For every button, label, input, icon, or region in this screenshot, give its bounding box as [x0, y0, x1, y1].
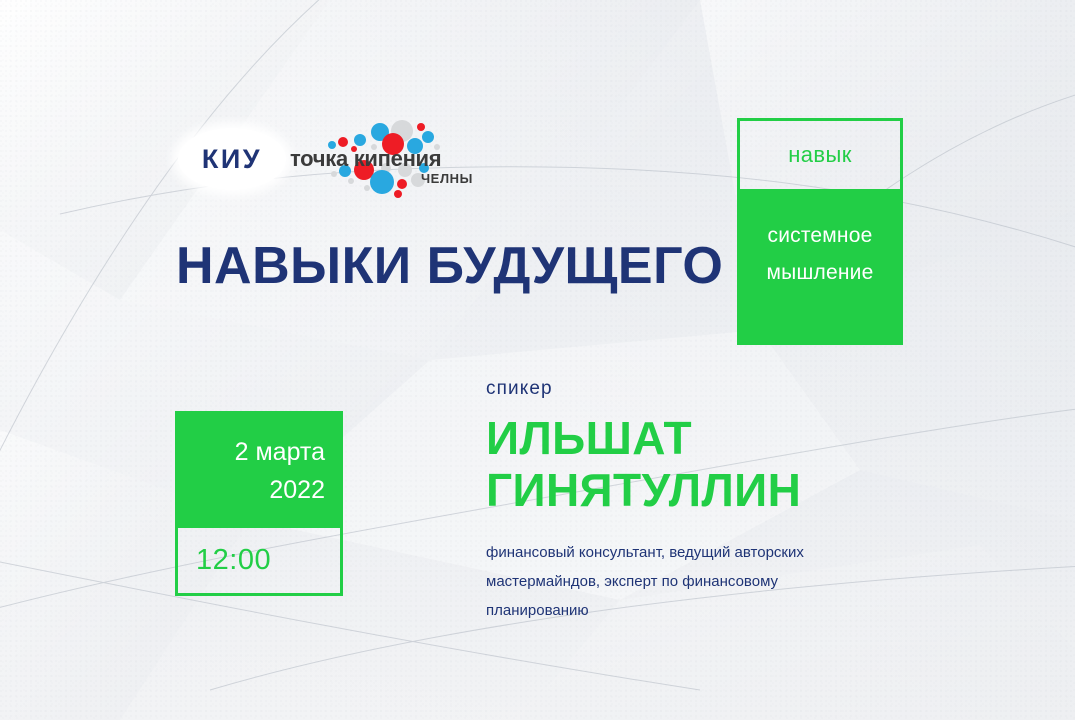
kiu-logo-text: КИУ: [202, 144, 262, 175]
skill-card-line-2: мышление: [767, 254, 874, 291]
event-date-year: 2022: [269, 471, 325, 509]
tochka-kipeniya-logo: точка кипения ЧЕЛНЫ: [290, 118, 475, 200]
poster-title: НАВЫКИ БУДУЩЕГО: [176, 236, 723, 296]
logo-row: КИУ: [178, 118, 478, 200]
speaker-section: спикер ИЛЬШАТ ГИНЯТУЛЛИН финансовый конс…: [486, 378, 906, 625]
skill-card-label: навык: [788, 142, 852, 168]
skill-card-body: системное мышление: [737, 192, 903, 345]
date-time-card: 2 марта 2022 12:00: [175, 411, 343, 596]
speaker-last-name: ГИНЯТУЛЛИН: [486, 464, 906, 516]
tochka-kipeniya-wordmark: точка кипения: [290, 146, 441, 172]
speaker-kicker-label: спикер: [486, 378, 906, 400]
event-time: 12:00: [196, 544, 271, 577]
kiu-logo: КИУ: [178, 128, 286, 190]
event-date-day: 2 марта: [235, 433, 325, 471]
skill-card: навык системное мышление: [737, 118, 903, 345]
speaker-first-name: ИЛЬШАТ: [486, 412, 906, 464]
date-card: 2 марта 2022: [175, 411, 343, 528]
event-poster: КИУ: [0, 0, 1075, 720]
time-card: 12:00: [175, 528, 343, 596]
tochka-kipeniya-city: ЧЕЛНЫ: [421, 171, 473, 186]
speaker-name: ИЛЬШАТ ГИНЯТУЛЛИН: [486, 412, 906, 516]
speaker-description: финансовый консультант, ведущий авторски…: [486, 538, 851, 625]
skill-card-line-1: системное: [768, 217, 873, 254]
skill-card-header: навык: [737, 118, 903, 192]
